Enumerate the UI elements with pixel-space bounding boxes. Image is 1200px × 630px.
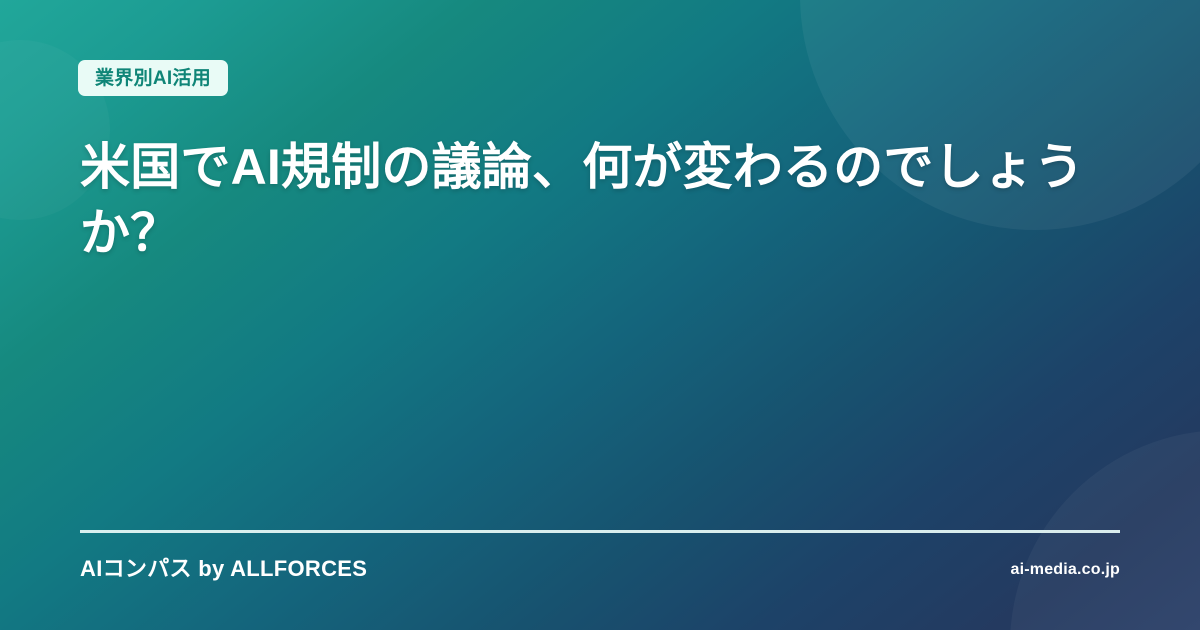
card-content: 業界別AI活用 米国でAI規制の議論、何が変わるのでしょうか？ AIコンパス b… <box>0 0 1200 630</box>
brand-name: AIコンパス by ALLFORCES <box>80 556 367 582</box>
card-footer: AIコンパス by ALLFORCES ai-media.co.jp <box>80 556 1120 582</box>
site-domain: ai-media.co.jp <box>1011 560 1121 579</box>
footer-divider <box>80 530 1120 533</box>
og-card: 業界別AI活用 米国でAI規制の議論、何が変わるのでしょうか？ AIコンパス b… <box>0 0 1200 630</box>
category-badge: 業界別AI活用 <box>78 60 228 96</box>
page-title: 米国でAI規制の議論、何が変わるのでしょうか？ <box>80 134 1125 266</box>
